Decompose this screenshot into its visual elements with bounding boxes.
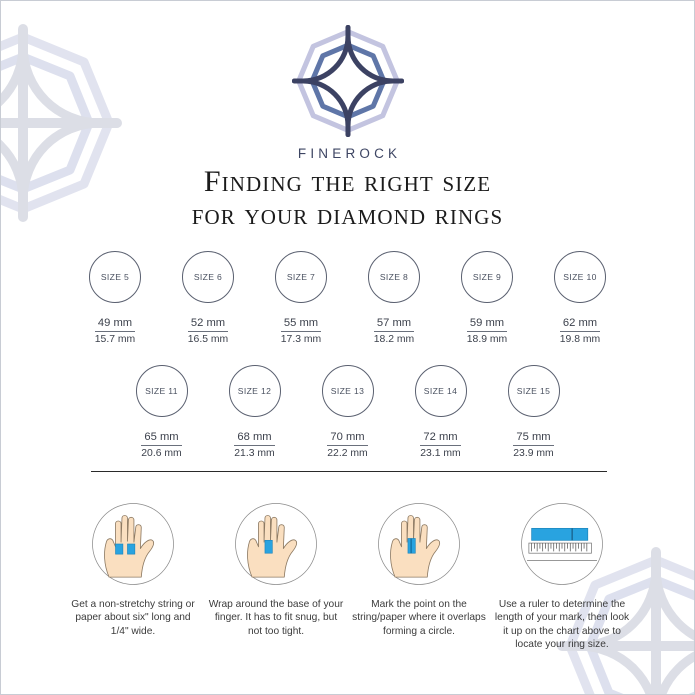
size-circle: SIZE 14 xyxy=(415,365,467,417)
measuring-instructions: Get a non-stretchy string or paper about… xyxy=(1,498,694,652)
instruction-step: Wrap around the base of your finger. It … xyxy=(205,498,348,652)
diameter-value: 16.5 mm xyxy=(188,332,228,345)
size-label: SIZE 10 xyxy=(563,272,597,282)
size-label: SIZE 6 xyxy=(194,272,222,282)
hand-wrap-finger-icon xyxy=(230,498,322,590)
circumference-value: 72 mm xyxy=(420,431,460,446)
instruction-step: Use a ruler to determine the length of y… xyxy=(491,498,634,652)
size-circle: SIZE 8 xyxy=(368,251,420,303)
diameter-value: 22.2 mm xyxy=(327,446,367,459)
circumference-value: 59 mm xyxy=(467,317,507,332)
size-circle: SIZE 5 xyxy=(89,251,141,303)
size-cell: SIZE 12 68 mm 21.3 mm xyxy=(208,365,301,461)
size-label: SIZE 8 xyxy=(380,272,408,282)
circumference-value: 65 mm xyxy=(141,431,181,446)
size-measures: 62 mm 19.8 mm xyxy=(560,317,600,345)
hand-mark-overlap-icon xyxy=(373,498,465,590)
size-row-2: SIZE 11 65 mm 20.6 mm SIZE 12 68 mm 21.3… xyxy=(1,365,694,461)
size-measures: 55 mm 17.3 mm xyxy=(281,317,321,345)
size-measures: 49 mm 15.7 mm xyxy=(95,317,135,345)
size-cell: SIZE 11 65 mm 20.6 mm xyxy=(115,365,208,461)
diameter-value: 23.9 mm xyxy=(513,446,553,459)
size-measures: 72 mm 23.1 mm xyxy=(420,431,460,459)
circumference-value: 55 mm xyxy=(281,317,321,332)
size-cell: SIZE 14 72 mm 23.1 mm xyxy=(394,365,487,461)
compass-star-icon xyxy=(292,25,404,137)
page-title-line-2: for your diamond rings xyxy=(1,198,694,231)
size-measures: 57 mm 18.2 mm xyxy=(374,317,414,345)
diameter-value: 21.3 mm xyxy=(234,446,274,459)
size-circle: SIZE 6 xyxy=(182,251,234,303)
size-label: SIZE 12 xyxy=(238,386,272,396)
step-caption: Wrap around the base of your finger. It … xyxy=(205,598,348,638)
ruler-measure-icon xyxy=(516,498,608,590)
size-label: SIZE 5 xyxy=(101,272,129,282)
page-title-line-1: Finding the right size xyxy=(1,165,694,198)
size-measures: 68 mm 21.3 mm xyxy=(234,431,274,459)
diameter-value: 18.2 mm xyxy=(374,332,414,345)
size-cell: SIZE 6 52 mm 16.5 mm xyxy=(162,251,255,347)
size-circle: SIZE 11 xyxy=(136,365,188,417)
hand-two-marks-icon xyxy=(87,498,179,590)
circumference-value: 62 mm xyxy=(560,317,600,332)
size-circle: SIZE 9 xyxy=(461,251,513,303)
instruction-step: Mark the point on the string/paper where… xyxy=(348,498,491,652)
size-label: SIZE 13 xyxy=(331,386,365,396)
size-label: SIZE 14 xyxy=(424,386,458,396)
size-cell: SIZE 8 57 mm 18.2 mm xyxy=(348,251,441,347)
diameter-value: 17.3 mm xyxy=(281,332,321,345)
circumference-value: 75 mm xyxy=(513,431,553,446)
circumference-value: 68 mm xyxy=(234,431,274,446)
diameter-value: 20.6 mm xyxy=(141,446,181,459)
circumference-value: 70 mm xyxy=(327,431,367,446)
ring-size-guide-page: FINEROCK Finding the right size for your… xyxy=(0,0,695,695)
step-caption: Use a ruler to determine the length of y… xyxy=(491,598,634,652)
ring-size-chart: SIZE 5 49 mm 15.7 mm SIZE 6 52 mm 16.5 m… xyxy=(1,251,694,461)
size-row-1: SIZE 5 49 mm 15.7 mm SIZE 6 52 mm 16.5 m… xyxy=(1,251,694,347)
size-circle: SIZE 10 xyxy=(554,251,606,303)
size-measures: 52 mm 16.5 mm xyxy=(188,317,228,345)
size-circle: SIZE 12 xyxy=(229,365,281,417)
circumference-value: 52 mm xyxy=(188,317,228,332)
brand-header: FINEROCK xyxy=(1,25,694,161)
size-cell: SIZE 15 75 mm 23.9 mm xyxy=(487,365,580,461)
size-label: SIZE 9 xyxy=(473,272,501,282)
size-label: SIZE 15 xyxy=(517,386,551,396)
diameter-value: 18.9 mm xyxy=(467,332,507,345)
diameter-value: 23.1 mm xyxy=(420,446,460,459)
instruction-step: Get a non-stretchy string or paper about… xyxy=(62,498,205,652)
brand-wordmark: FINEROCK xyxy=(1,146,694,161)
size-measures: 65 mm 20.6 mm xyxy=(141,431,181,459)
size-circle: SIZE 15 xyxy=(508,365,560,417)
size-cell: SIZE 7 55 mm 17.3 mm xyxy=(255,251,348,347)
size-cell: SIZE 5 49 mm 15.7 mm xyxy=(69,251,162,347)
diameter-value: 19.8 mm xyxy=(560,332,600,345)
size-circle: SIZE 13 xyxy=(322,365,374,417)
step-caption: Mark the point on the string/paper where… xyxy=(348,598,491,638)
size-cell: SIZE 9 59 mm 18.9 mm xyxy=(441,251,534,347)
size-measures: 75 mm 23.9 mm xyxy=(513,431,553,459)
size-label: SIZE 7 xyxy=(287,272,315,282)
size-measures: 70 mm 22.2 mm xyxy=(327,431,367,459)
size-label: SIZE 11 xyxy=(145,386,178,396)
circumference-value: 57 mm xyxy=(374,317,414,332)
diameter-value: 15.7 mm xyxy=(95,332,135,345)
page-title: Finding the right size for your diamond … xyxy=(1,165,694,231)
size-measures: 59 mm 18.9 mm xyxy=(467,317,507,345)
size-cell: SIZE 13 70 mm 22.2 mm xyxy=(301,365,394,461)
size-circle: SIZE 7 xyxy=(275,251,327,303)
circumference-value: 49 mm xyxy=(95,317,135,332)
step-caption: Get a non-stretchy string or paper about… xyxy=(62,598,205,638)
section-divider xyxy=(91,471,607,472)
size-cell: SIZE 10 62 mm 19.8 mm xyxy=(534,251,627,347)
